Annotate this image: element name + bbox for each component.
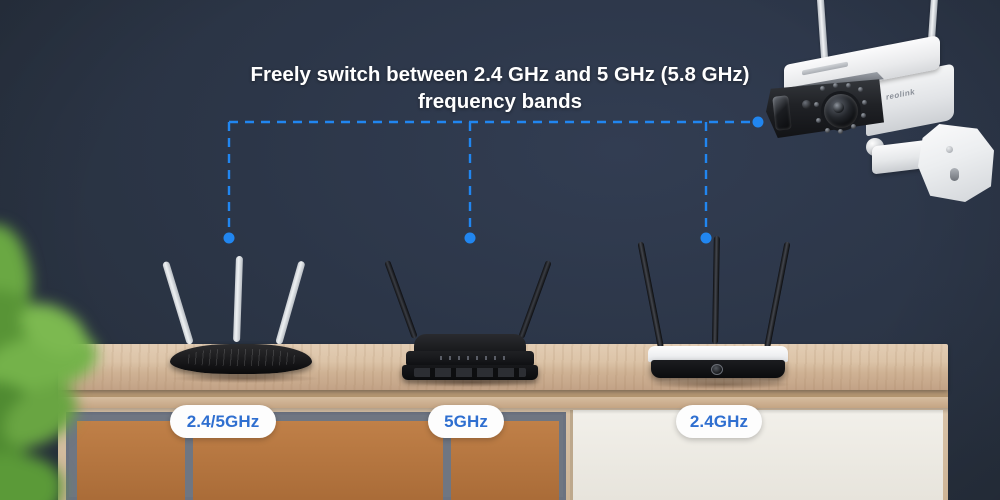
ir-led-icon xyxy=(858,87,863,92)
ir-led-icon xyxy=(861,113,866,118)
router-body xyxy=(170,344,312,374)
router-dual-band xyxy=(165,258,315,380)
antenna-icon xyxy=(712,236,720,344)
antenna-icon xyxy=(275,260,305,345)
antenna-icon xyxy=(162,261,194,345)
ir-led-icon xyxy=(862,100,867,105)
ir-led-icon xyxy=(816,118,821,123)
headline: Freely switch between 2.4 GHz and 5 GHz … xyxy=(150,62,850,115)
label-5ghz: 5GHz xyxy=(428,405,504,438)
label-24ghz: 2.4GHz xyxy=(676,405,762,438)
foreground-plant xyxy=(0,215,120,500)
router-vents xyxy=(414,368,526,377)
antenna-icon xyxy=(764,241,790,348)
power-indicator-icon xyxy=(711,364,723,375)
label-dual-band: 2.4/5GHz xyxy=(170,405,276,438)
ir-led-icon xyxy=(838,129,843,134)
camera-mount-plate xyxy=(918,124,994,202)
router-5ghz xyxy=(400,252,540,382)
plant-leaf xyxy=(0,447,65,500)
headline-line-1: Freely switch between 2.4 GHz and 5 GHz … xyxy=(150,62,850,89)
antenna-icon xyxy=(233,256,243,342)
ir-led-icon xyxy=(825,128,830,133)
camera-mount-screw-icon xyxy=(946,146,953,153)
ir-led-icon xyxy=(851,124,856,129)
headline-line-2: frequency bands xyxy=(150,89,850,116)
camera-mount-screw-icon xyxy=(950,168,959,181)
router-24ghz xyxy=(648,236,788,386)
product-illustration: reolink xyxy=(0,0,1000,500)
status-led-row xyxy=(440,356,512,360)
